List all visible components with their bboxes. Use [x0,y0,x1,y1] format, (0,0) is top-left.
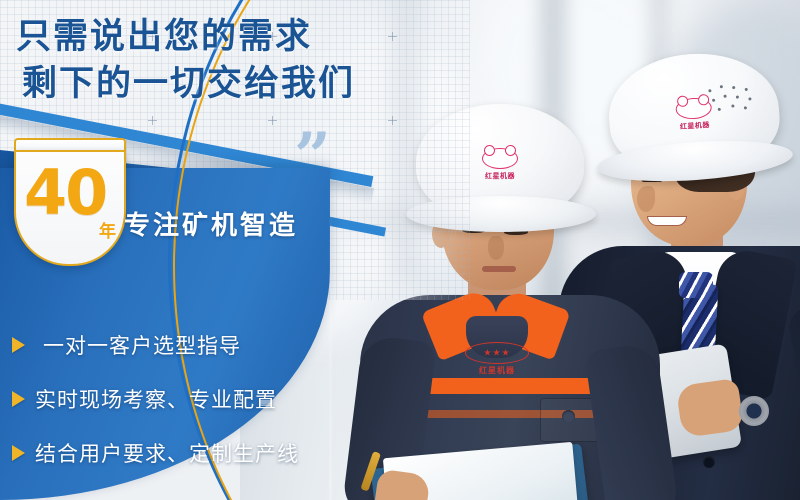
hand [676,378,745,438]
list-item: 一对一客户选型指导 [12,330,299,360]
star-icon: ★★★ [483,349,510,358]
pocket-button [562,410,575,423]
mouth [482,266,516,272]
list-item-label: 结合用户要求、定制生产线 [35,438,299,468]
list-item: 结合用户要求、定制生产线 [12,438,299,468]
list-item-label: 一对一客户选型指导 [43,330,241,360]
grid-crosshair-icon [388,32,397,41]
nose [488,236,504,260]
headline-line-1: 只需说出您的需求 [16,14,355,61]
uniform-chest-logo: ★★★ 红星机器 [462,342,532,374]
anniversary-badge: 40 年 [14,150,126,266]
brand-mark-icon [482,148,518,169]
grid-crosshair-icon [268,116,277,125]
grid-crosshair-icon [148,116,157,125]
anniversary-number: 40 [24,162,106,224]
grid-crosshair-icon [388,116,397,125]
necktie-knot [679,272,713,298]
helmet-logo-text: 红星机器 [471,171,529,181]
helmet-vent-holes [704,79,764,118]
helmet-logo-text: 红星机器 [666,119,725,133]
wristwatch [739,396,769,426]
arrow-right-icon [12,391,25,407]
logo-oval-icon: ★★★ [465,342,529,364]
anniversary-unit: 年 [99,217,116,242]
headline: 只需说出您的需求 剩下的一切交给我们 [16,14,355,108]
headline-line-2: 剩下的一切交给我们 [22,61,355,108]
jacket-button [703,456,715,468]
promo-banner: 红星机器 [0,0,800,500]
slogan-text: 专注矿机智造 [124,205,298,242]
list-item-label: 实时现场考察、专业配置 [35,384,277,414]
uniform-logo-text: 红星机器 [462,365,532,376]
list-item: 实时现场考察、专业配置 [12,384,299,414]
helmet-brand-logo: 红星机器 [471,148,529,181]
arrow-right-icon [12,445,25,461]
feature-list: 一对一客户选型指导 实时现场考察、专业配置 结合用户要求、定制生产线 [12,330,299,492]
arrow-right-icon [12,337,25,353]
